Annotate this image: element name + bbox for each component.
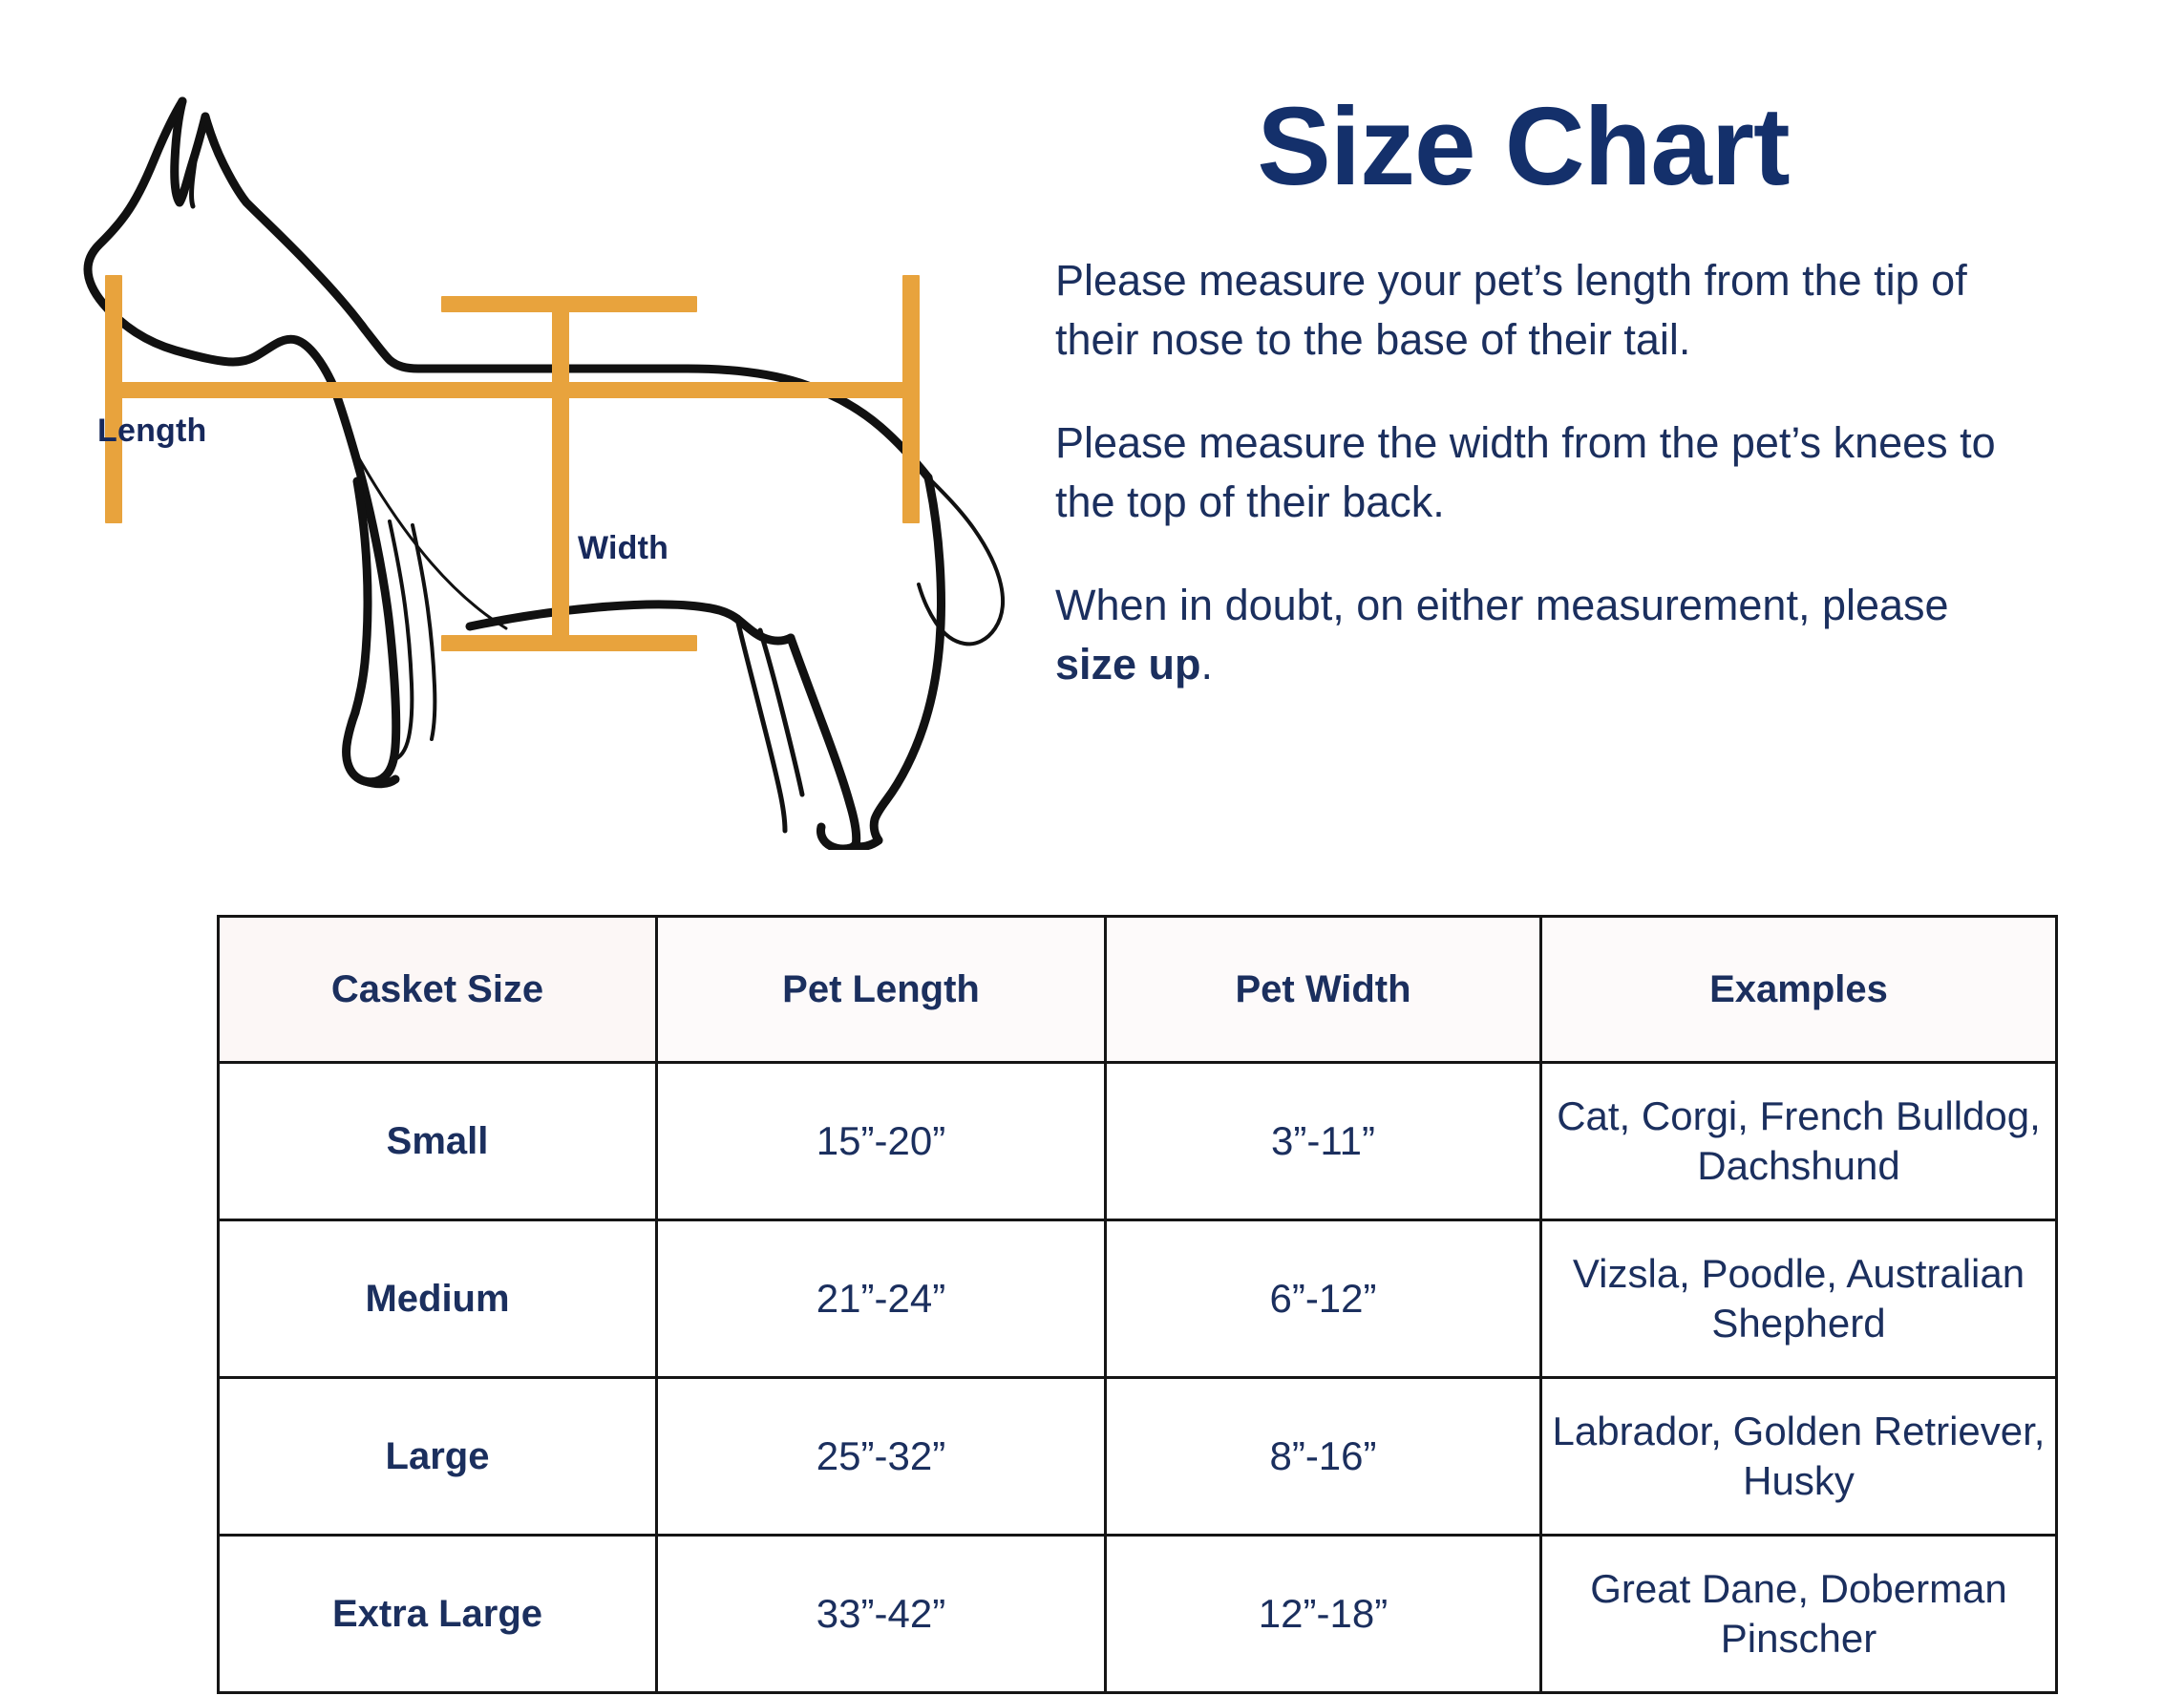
width-instruction-text: Please measure the width from the pet’s … [1055, 413, 2010, 532]
table-row: Large 25”-32” 8”-16” Labrador, Golden Re… [219, 1378, 2057, 1536]
cell-length-extra-large: 33”-42” [657, 1536, 1106, 1693]
column-header-pet-width: Pet Width [1106, 917, 1541, 1063]
instructions-panel: Size Chart Please measure your pet’s len… [1055, 91, 2106, 695]
length-label: Length [97, 413, 207, 450]
page-title: Size Chart [1055, 91, 2106, 201]
cell-length-small: 15”-20” [657, 1063, 1106, 1220]
size-up-note-suffix: . [1201, 640, 1214, 689]
top-section: Length Width Size Chart Please measure y… [0, 0, 2184, 888]
width-bottom-tick [441, 635, 697, 651]
cell-examples-large: Labrador, Golden Retriever, Husky [1541, 1378, 2057, 1536]
table-header-row: Casket Size Pet Length Pet Width Example… [219, 917, 2057, 1063]
table-row: Extra Large 33”-42” 12”-18” Great Dane, … [219, 1536, 2057, 1693]
cell-length-medium: 21”-24” [657, 1220, 1106, 1378]
width-span-bar [552, 296, 569, 651]
cell-examples-small: Cat, Corgi, French Bulldog, Dachshund [1541, 1063, 2057, 1220]
cell-width-extra-large: 12”-18” [1106, 1536, 1541, 1693]
length-instruction-text: Please measure your pet’s length from th… [1055, 251, 2010, 370]
cell-examples-medium: Vizsla, Poodle, Australian Shepherd [1541, 1220, 2057, 1378]
width-label: Width [578, 530, 668, 567]
length-span-bar [105, 382, 920, 398]
pet-measurement-diagram: Length Width [57, 57, 1060, 850]
width-top-tick [441, 296, 697, 312]
column-header-casket-size: Casket Size [219, 917, 657, 1063]
cell-examples-extra-large: Great Dane, Doberman Pinscher [1541, 1536, 2057, 1693]
cell-size-large: Large [219, 1378, 657, 1536]
cell-length-large: 25”-32” [657, 1378, 1106, 1536]
size-chart-table: Casket Size Pet Length Pet Width Example… [217, 915, 2058, 1694]
cell-width-small: 3”-11” [1106, 1063, 1541, 1220]
table-row: Small 15”-20” 3”-11” Cat, Corgi, French … [219, 1063, 2057, 1220]
table-row: Medium 21”-24” 6”-12” Vizsla, Poodle, Au… [219, 1220, 2057, 1378]
cell-size-extra-large: Extra Large [219, 1536, 657, 1693]
column-header-pet-length: Pet Length [657, 917, 1106, 1063]
size-up-note-prefix: When in doubt, on either measurement, pl… [1055, 581, 1949, 629]
size-up-emphasis: size up [1055, 640, 1201, 689]
size-up-note: When in doubt, on either measurement, pl… [1055, 576, 2010, 694]
length-right-tick [902, 275, 920, 523]
cell-width-large: 8”-16” [1106, 1378, 1541, 1536]
column-header-examples: Examples [1541, 917, 2057, 1063]
length-left-tick [105, 275, 122, 523]
cell-width-medium: 6”-12” [1106, 1220, 1541, 1378]
cell-size-medium: Medium [219, 1220, 657, 1378]
cell-size-small: Small [219, 1063, 657, 1220]
